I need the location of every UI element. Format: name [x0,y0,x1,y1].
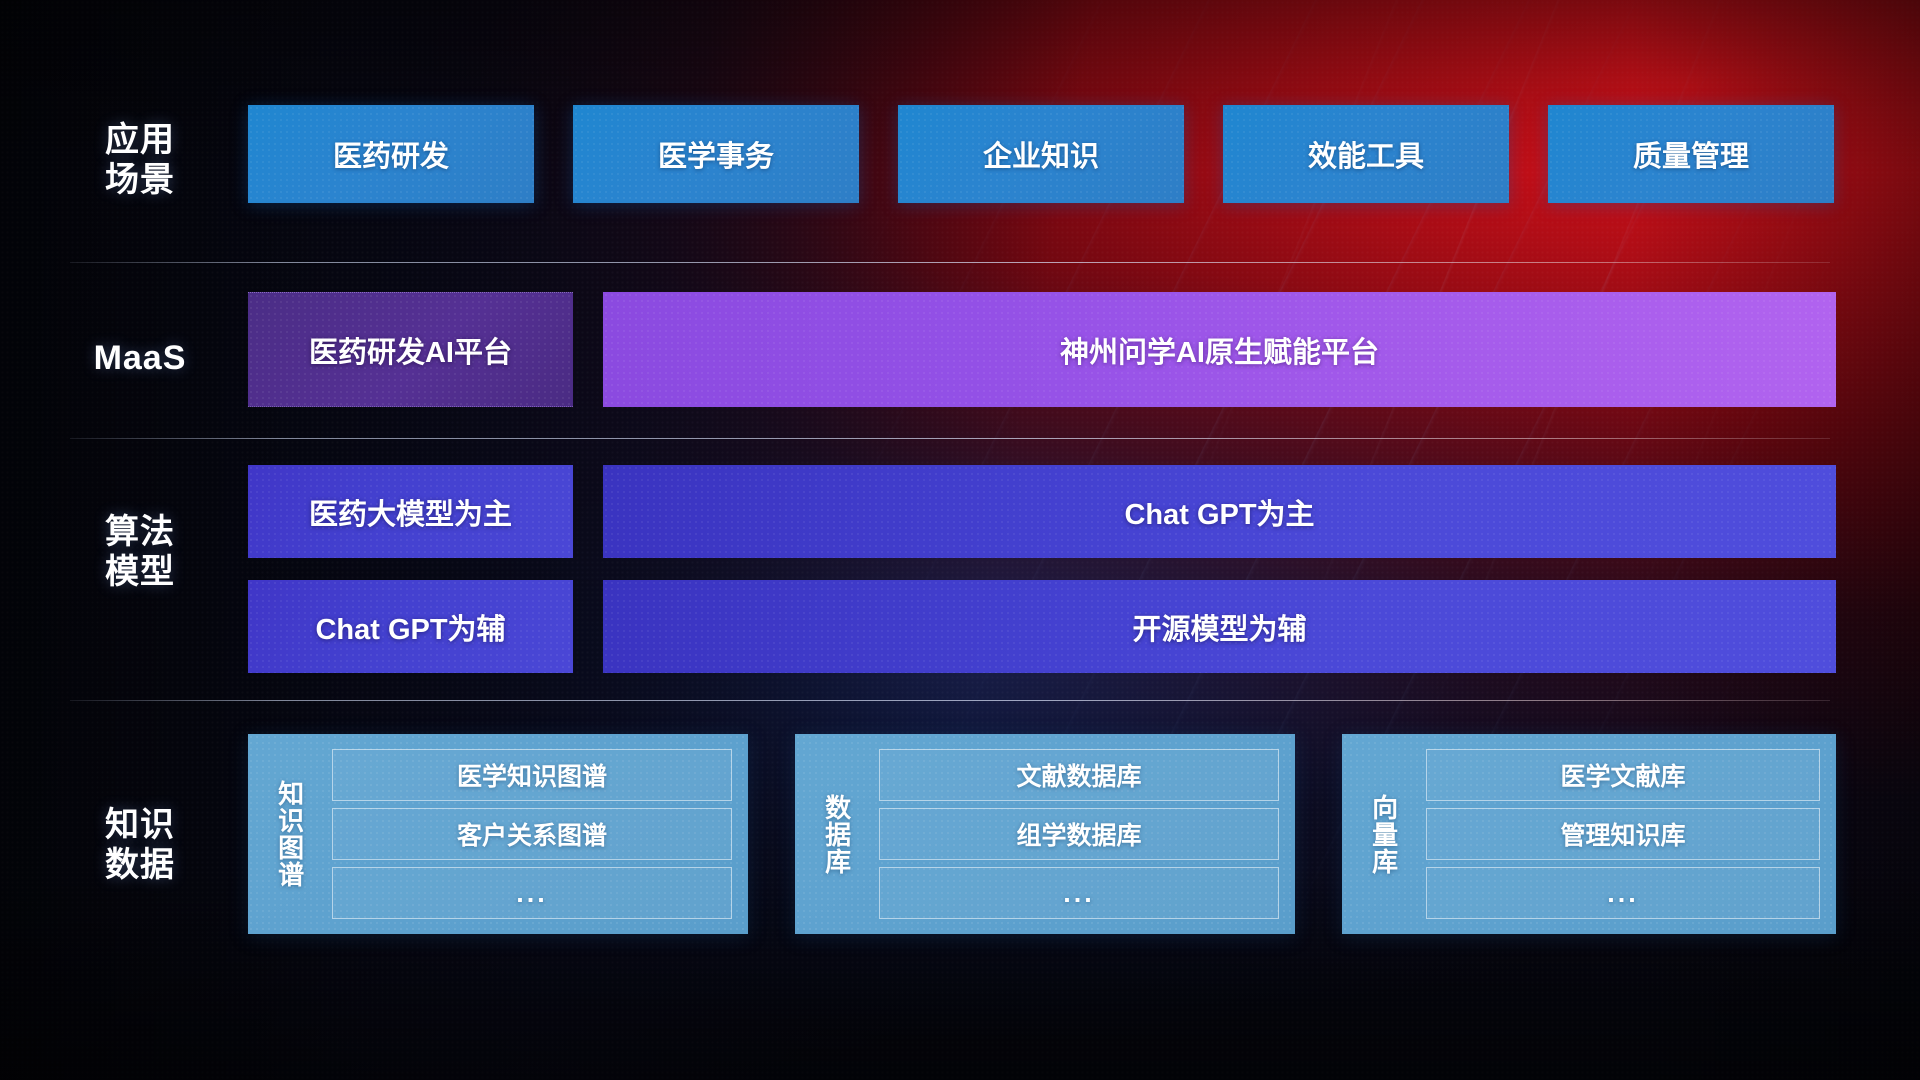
knowledge-panel-title: 向量库 [1356,744,1410,924]
knowledge-item[interactable]: 文献数据库 [879,749,1279,801]
app-box-label: 医学事务 [658,133,774,175]
algo-box-label: 开源模型为辅 [1132,606,1306,648]
knowledge-item[interactable]: 客户关系图谱 [332,808,732,860]
algo-box-r1-right[interactable]: 开源模型为辅 [603,580,1836,673]
algo-box-r1-left[interactable]: Chat GPT为辅 [248,580,573,673]
algo-box-label: Chat GPT为主 [1124,491,1314,533]
knowledge-item[interactable]: 医学知识图谱 [332,749,732,801]
maas-box-label: 神州问学AI原生赋能平台 [1060,329,1379,371]
knowledge-item[interactable]: 管理知识库 [1426,808,1820,860]
app-box-label: 医药研发 [333,133,449,175]
algo-box-label: 医药大模型为主 [309,491,512,533]
row-label-maas: MaaS [70,338,210,378]
algo-box-label: Chat GPT为辅 [315,606,505,648]
divider-1 [70,262,1830,263]
maas-box-medical-ai-platform[interactable]: 医药研发AI平台 [248,292,573,407]
knowledge-panel-vector-store[interactable]: 向量库 医学文献库 管理知识库 ... [1342,734,1836,934]
app-box-4[interactable]: 质量管理 [1548,105,1834,203]
algo-box-r0-left[interactable]: 医药大模型为主 [248,465,573,558]
knowledge-panel-title: 知识图谱 [262,744,316,924]
knowledge-panel-database[interactable]: 数据库 文献数据库 组学数据库 ... [795,734,1295,934]
knowledge-panel-items: 医学文献库 管理知识库 ... [1410,744,1824,924]
knowledge-panel-items: 医学知识图谱 客户关系图谱 ... [316,744,736,924]
knowledge-item-more[interactable]: ... [1426,867,1820,919]
knowledge-panel-knowledge-graph[interactable]: 知识图谱 医学知识图谱 客户关系图谱 ... [248,734,748,934]
knowledge-item-more[interactable]: ... [332,867,732,919]
divider-3 [70,700,1830,701]
app-box-2[interactable]: 企业知识 [898,105,1184,203]
row-label-knowledge: 知识 数据 [70,805,210,885]
maas-box-label: 医药研发AI平台 [309,329,512,371]
knowledge-item[interactable]: 医学文献库 [1426,749,1820,801]
row-label-application: 应用 场景 [70,120,210,200]
app-box-label: 企业知识 [983,133,1099,175]
row-label-algorithm: 算法 模型 [70,512,210,592]
maas-box-shenzhou-platform[interactable]: 神州问学AI原生赋能平台 [603,292,1836,407]
diagram-content: 应用 场景 医药研发 医学事务 企业知识 效能工具 质量管理 MaaS 医药研发… [0,0,1920,1080]
knowledge-item-more[interactable]: ... [879,867,1279,919]
app-box-3[interactable]: 效能工具 [1223,105,1509,203]
divider-2 [70,438,1830,439]
app-box-0[interactable]: 医药研发 [248,105,534,203]
algo-box-r0-right[interactable]: Chat GPT为主 [603,465,1836,558]
knowledge-panel-title: 数据库 [809,744,863,924]
app-box-1[interactable]: 医学事务 [573,105,859,203]
knowledge-item[interactable]: 组学数据库 [879,808,1279,860]
app-box-label: 质量管理 [1633,133,1749,175]
architecture-diagram-slide: 应用 场景 医药研发 医学事务 企业知识 效能工具 质量管理 MaaS 医药研发… [0,0,1920,1080]
app-box-label: 效能工具 [1308,133,1424,175]
knowledge-panel-items: 文献数据库 组学数据库 ... [863,744,1283,924]
